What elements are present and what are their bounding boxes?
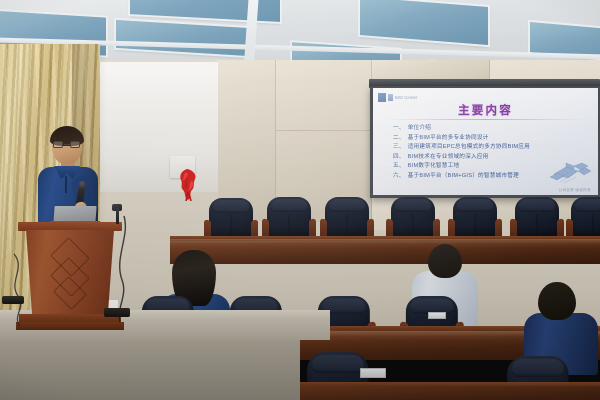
chair-headrest <box>456 199 494 212</box>
conference-chair <box>566 197 600 241</box>
table-gloss <box>170 239 600 251</box>
glasses-lens <box>53 141 63 148</box>
slide-item-number: 五、 <box>393 161 405 169</box>
slide-item-text: 单位介绍 <box>408 123 431 131</box>
chair-headrest <box>328 199 366 212</box>
slide-list-item: 一、 单位介绍 <box>393 123 588 131</box>
wall-marble-pilaster <box>218 60 276 220</box>
logo-mark-icon <box>388 94 393 101</box>
chair-headrest <box>574 199 600 212</box>
slide-item-text: 基于BIM平台的多专业协同设计 <box>408 133 489 141</box>
presentation-slide: BIM Center 主要内容 一、 单位介绍 二、 基于BIM平台的多专业协同… <box>373 88 598 195</box>
slide-list-item: 三、 适用建筑项目EPC总包模式的多方协同BIM应用 <box>393 142 588 150</box>
chair-headrest <box>511 359 564 377</box>
conference-chair <box>448 197 502 241</box>
conference-chair <box>262 197 316 241</box>
slide-item-text: BIM技术在专业领域的深入应用 <box>408 152 489 160</box>
slide-item-text: BIM数字化智慧工地 <box>408 161 460 169</box>
chair-headrest <box>212 200 250 213</box>
conference-chair <box>386 197 440 241</box>
slide-item-number: 四、 <box>393 152 405 160</box>
chair-seam <box>593 214 594 235</box>
cable-connector-box <box>104 308 130 317</box>
slide-divider <box>385 119 586 120</box>
slide-footer: 公司名称 版权所有 <box>559 188 591 193</box>
ceiling-panel <box>360 0 488 45</box>
wall-white-panel <box>100 62 232 192</box>
chair-seam <box>347 214 348 235</box>
chair-seam <box>413 214 414 235</box>
slide-logo: BIM Center <box>378 93 418 102</box>
glasses-icon <box>53 141 81 148</box>
slide-item-number: 二、 <box>393 133 405 141</box>
chair-seam <box>231 215 232 236</box>
chair-headrest <box>394 199 432 212</box>
slide-item-number: 三、 <box>393 142 405 150</box>
stage-platform-face <box>0 340 300 400</box>
slide-logo-text: BIM Center <box>395 95 418 100</box>
table-name-card <box>428 312 446 319</box>
glasses-lens <box>70 141 80 148</box>
logo-mark-icon <box>378 93 386 102</box>
floor-equipment <box>2 296 24 304</box>
slide-item-number: 六、 <box>393 171 405 179</box>
presenter-placket <box>65 176 67 193</box>
chair-headrest <box>518 199 556 212</box>
chair-seam <box>537 214 538 235</box>
glasses-bridge <box>64 144 70 145</box>
chair-seam <box>475 214 476 235</box>
conference-chair <box>510 197 564 241</box>
ceiling-panel <box>116 20 250 56</box>
audience-head <box>538 282 576 320</box>
red-ribbon-icon <box>177 168 199 201</box>
audience-head <box>428 244 462 278</box>
chair-headrest <box>270 199 308 212</box>
wall-seam <box>276 130 372 131</box>
table-name-card <box>360 368 386 378</box>
chair-headrest <box>311 355 364 373</box>
slide-item-number: 一、 <box>393 123 405 131</box>
slide-item-text: 适用建筑项目EPC总包模式的多方协同BIM应用 <box>408 142 530 150</box>
chair-seam <box>289 214 290 235</box>
conference-room-photo: BIM Center 主要内容 一、 单位介绍 二、 基于BIM平台的多专业协同… <box>0 0 600 400</box>
conference-chair <box>320 197 374 241</box>
slide-item-text: 基于BIM平台（BIM+GIS）的智慧城市管理 <box>408 171 519 179</box>
projection-screen: BIM Center 主要内容 一、 单位介绍 二、 基于BIM平台的多专业协同… <box>370 86 600 198</box>
slide-list-item: 二、 基于BIM平台的多专业协同设计 <box>393 133 588 141</box>
slide-title: 主要内容 <box>373 102 598 118</box>
city-model-graphic-icon <box>548 158 592 184</box>
